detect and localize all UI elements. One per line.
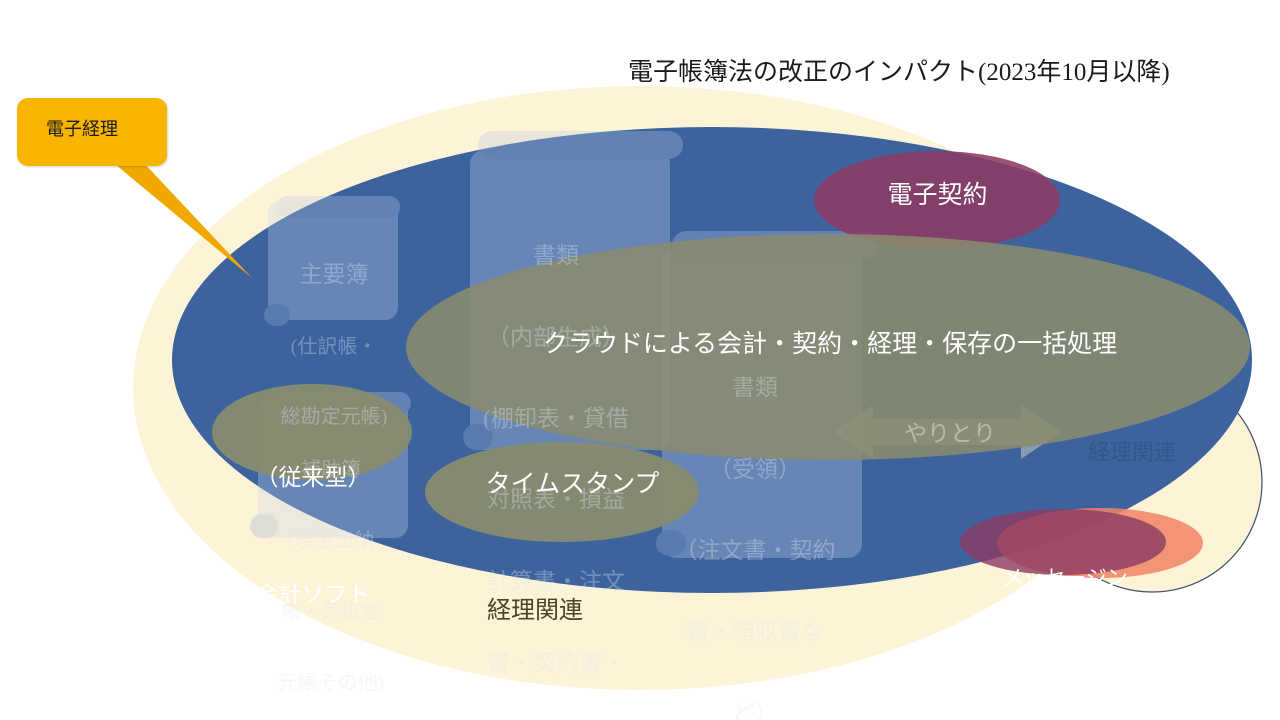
cloud-ellipse — [406, 234, 1250, 460]
shape-layer — [0, 0, 1280, 720]
accounting-software-ellipse — [212, 384, 412, 480]
timestamp-ellipse — [425, 442, 699, 542]
messaging-ellipse — [960, 509, 1166, 575]
callout-box[interactable] — [17, 98, 167, 166]
diagram-canvas: 電子経理 電子帳簿法の改正のインパクト(2023年10月以降) 主要簿 (仕訳帳… — [0, 0, 1280, 720]
document-main-ledger — [264, 196, 400, 326]
